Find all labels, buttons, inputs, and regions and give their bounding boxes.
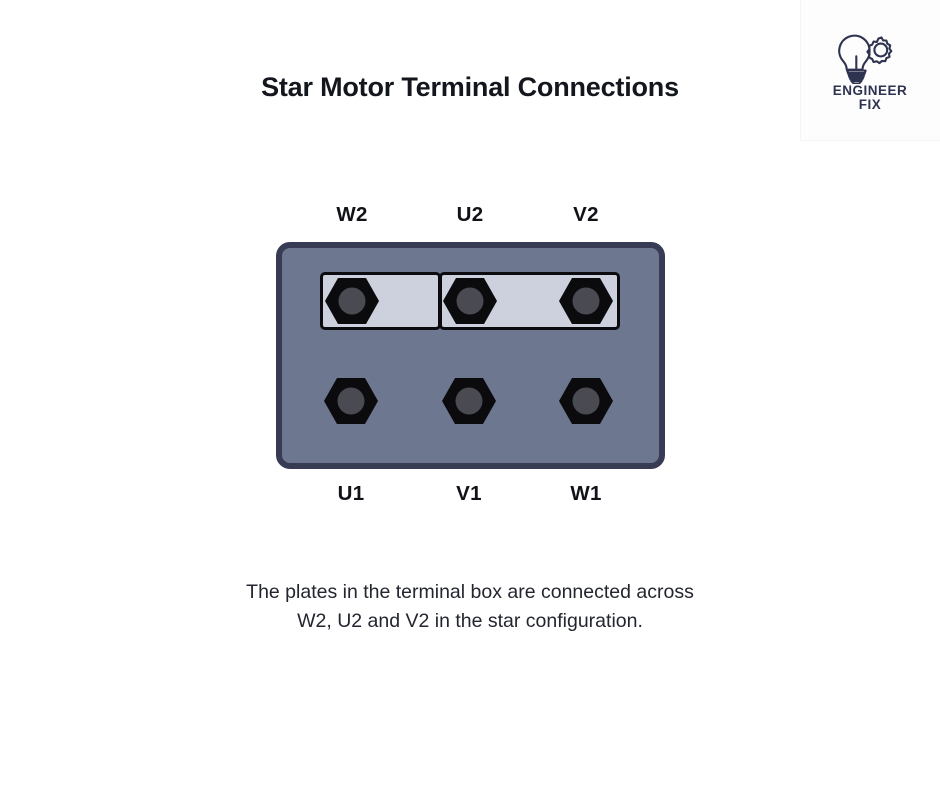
hex-nut-u1 — [323, 376, 379, 426]
terminal-label-v2: V2 — [573, 203, 599, 227]
diagram-caption: The plates in the terminal box are conne… — [235, 578, 705, 636]
hex-nut-u2 — [442, 276, 498, 326]
terminal-label-u2: U2 — [457, 203, 484, 227]
terminal-label-w1: W1 — [570, 482, 601, 506]
terminal-label-v1: V1 — [456, 482, 482, 506]
hex-nut-v1 — [441, 376, 497, 426]
hex-nut-w1 — [558, 376, 614, 426]
terminal-label-u1: U1 — [338, 482, 365, 506]
terminal-diagram: W2 U2 V2 U1 V1 W1 — [0, 0, 940, 788]
hex-nut-v2 — [558, 276, 614, 326]
hex-nut-w2 — [324, 276, 380, 326]
terminal-label-w2: W2 — [336, 203, 367, 227]
